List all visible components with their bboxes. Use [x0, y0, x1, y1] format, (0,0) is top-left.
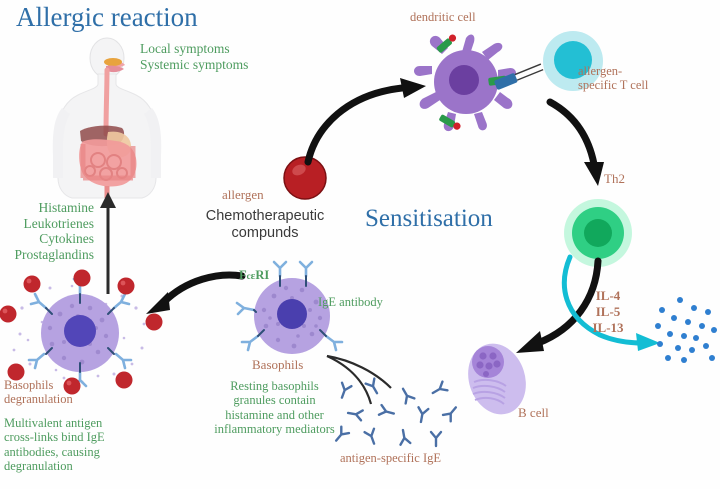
- sensitisation-title: Sensitisation: [365, 205, 493, 234]
- figure-title: Allergic reaction: [16, 2, 198, 33]
- chemotherapeutic-label: Chemotherapeutic compunds: [205, 208, 325, 241]
- fceri-label: FcεRI: [239, 268, 269, 283]
- dendritic-cell-label: dendritic cell: [410, 10, 476, 24]
- allergen-label: allergen: [222, 188, 264, 203]
- antigen-specific-ige-label: antigen-specific IgE: [340, 451, 441, 465]
- ige-antibody-icon: [330, 378, 470, 448]
- th2-label: Th2: [604, 172, 625, 187]
- b-cell-label: B cell: [518, 406, 549, 421]
- symptoms-label: Local symptoms Systemic symptoms: [140, 41, 248, 72]
- basophils-label: Basophils: [252, 358, 303, 373]
- mediators-label: Histamine Leukotrienes Cytokines Prostag…: [12, 200, 94, 262]
- interleukins-label: IL-4 IL-5 IL-13: [586, 288, 630, 336]
- arrow-allergen-to-dendritic: [300, 78, 430, 164]
- allergen-specific-t-cell-label: allergen- specific T cell: [578, 64, 648, 93]
- figure-canvas: Allergic reaction: [0, 0, 720, 489]
- ige-antibody-label: IgE antibody: [318, 295, 383, 309]
- resting-basophils-note: Resting basophils granules contain hista…: [212, 379, 337, 437]
- basophils-degranulation-label: Basophils degranulation: [4, 378, 73, 407]
- cytokine-dots-icon: [650, 296, 720, 364]
- crosslink-note-label: Multivalent antigen cross-links bind IgE…: [4, 416, 105, 474]
